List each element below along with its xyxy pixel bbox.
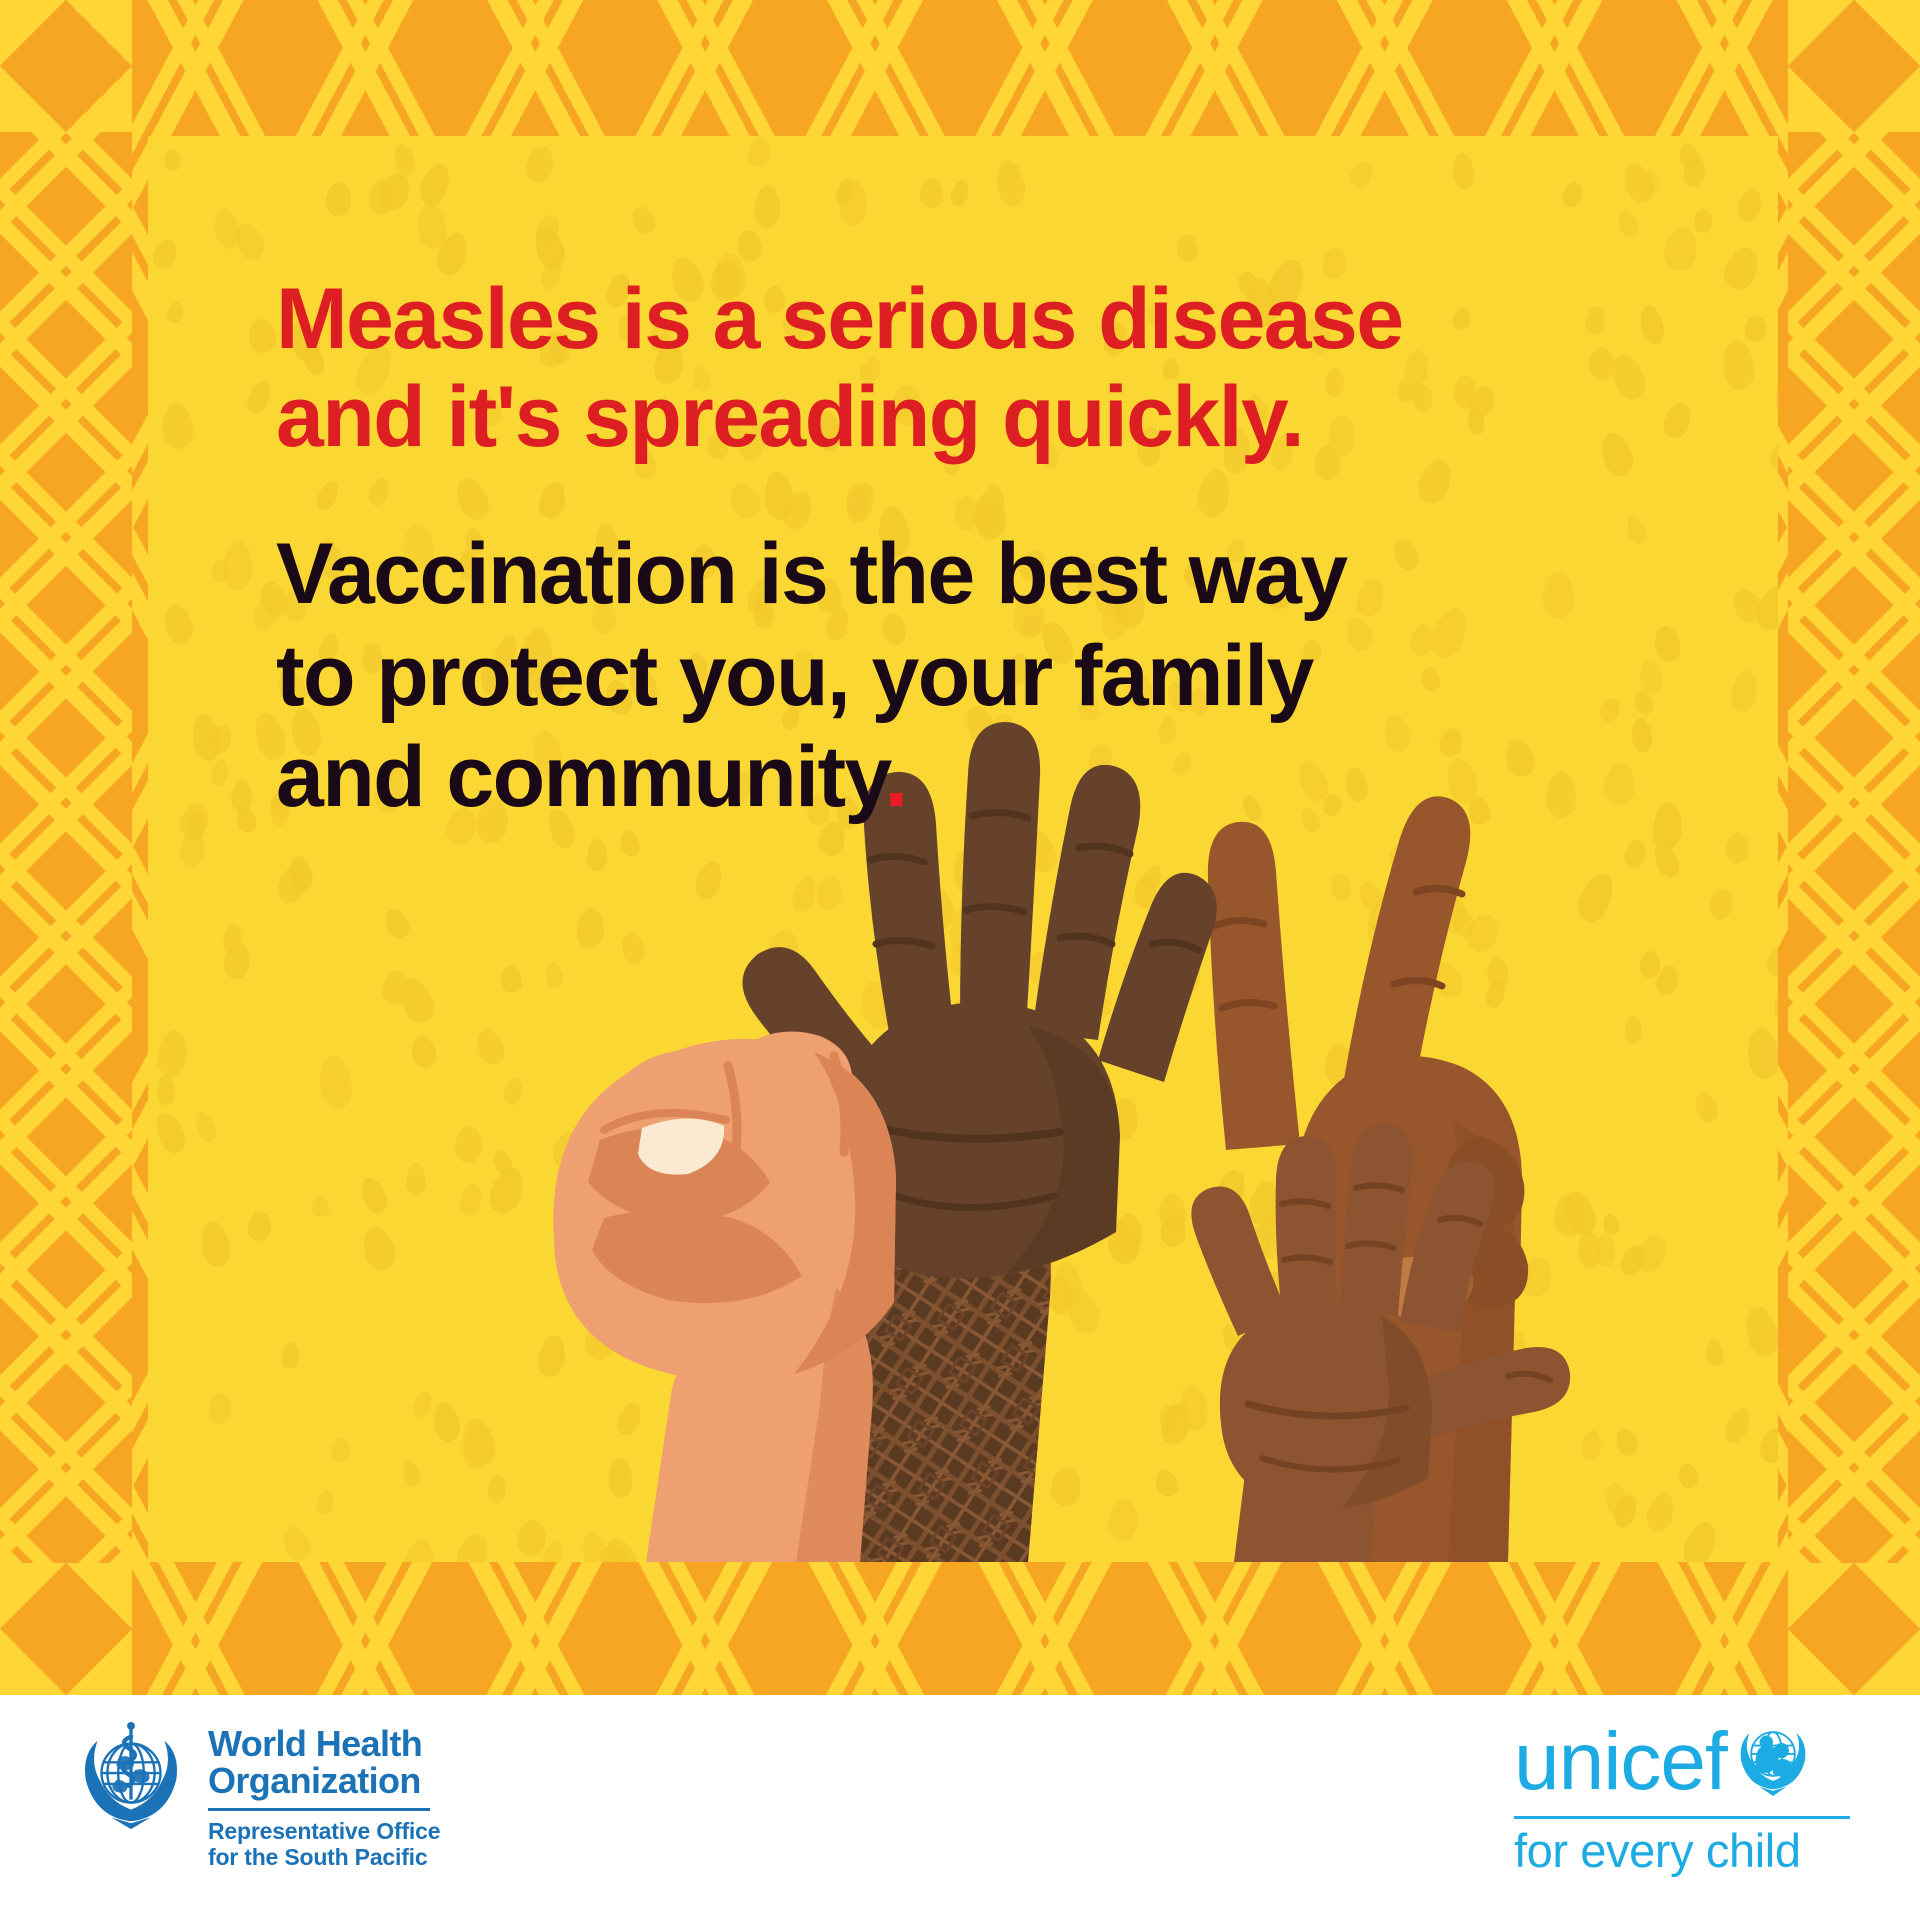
page-title: Measles is a serious diseaseand it's spr…: [276, 270, 1536, 466]
who-emblem-icon: [72, 1719, 190, 1842]
headline-line-2: and it's spreading quickly.: [276, 369, 1303, 465]
who-office-subtitle: Representative Office for the South Paci…: [208, 1818, 440, 1870]
who-logo-lockup: World Health Organization Representative…: [72, 1719, 440, 1870]
accent-period: .: [884, 729, 906, 825]
left-border-column: [0, 132, 132, 1563]
unicef-emblem-icon: [1731, 1717, 1815, 1806]
corner-motif-bottom-right: [1788, 1563, 1920, 1695]
footer-logo-bar: World Health Organization Representative…: [0, 1695, 1920, 1920]
right-border-column: [1788, 132, 1920, 1563]
unicef-wordmark: unicef: [1514, 1724, 1727, 1799]
poster-copy: Measles is a serious diseaseand it's spr…: [276, 270, 1536, 828]
subhead-line-3: and community: [276, 729, 884, 825]
headline-line-1: Measles is a serious disease: [276, 271, 1403, 367]
subhead-line-2: to protect you, your family: [276, 628, 1313, 724]
unicef-logo-lockup: unicef: [1514, 1717, 1850, 1874]
unicef-tagline: for every child: [1514, 1827, 1850, 1874]
corner-motif-top-left: [0, 0, 132, 132]
who-name: World Health Organization: [208, 1725, 440, 1800]
measles-vaccination-poster: Measles is a serious diseaseand it's spr…: [0, 0, 1920, 1920]
subhead-line-1: Vaccination is the best way: [276, 526, 1346, 622]
corner-motif-bottom-left: [0, 1563, 132, 1695]
unicef-divider: [1514, 1816, 1850, 1819]
who-divider: [208, 1808, 430, 1811]
subheadline: Vaccination is the best wayto protect yo…: [276, 524, 1536, 828]
corner-motif-top-right: [1788, 0, 1920, 132]
